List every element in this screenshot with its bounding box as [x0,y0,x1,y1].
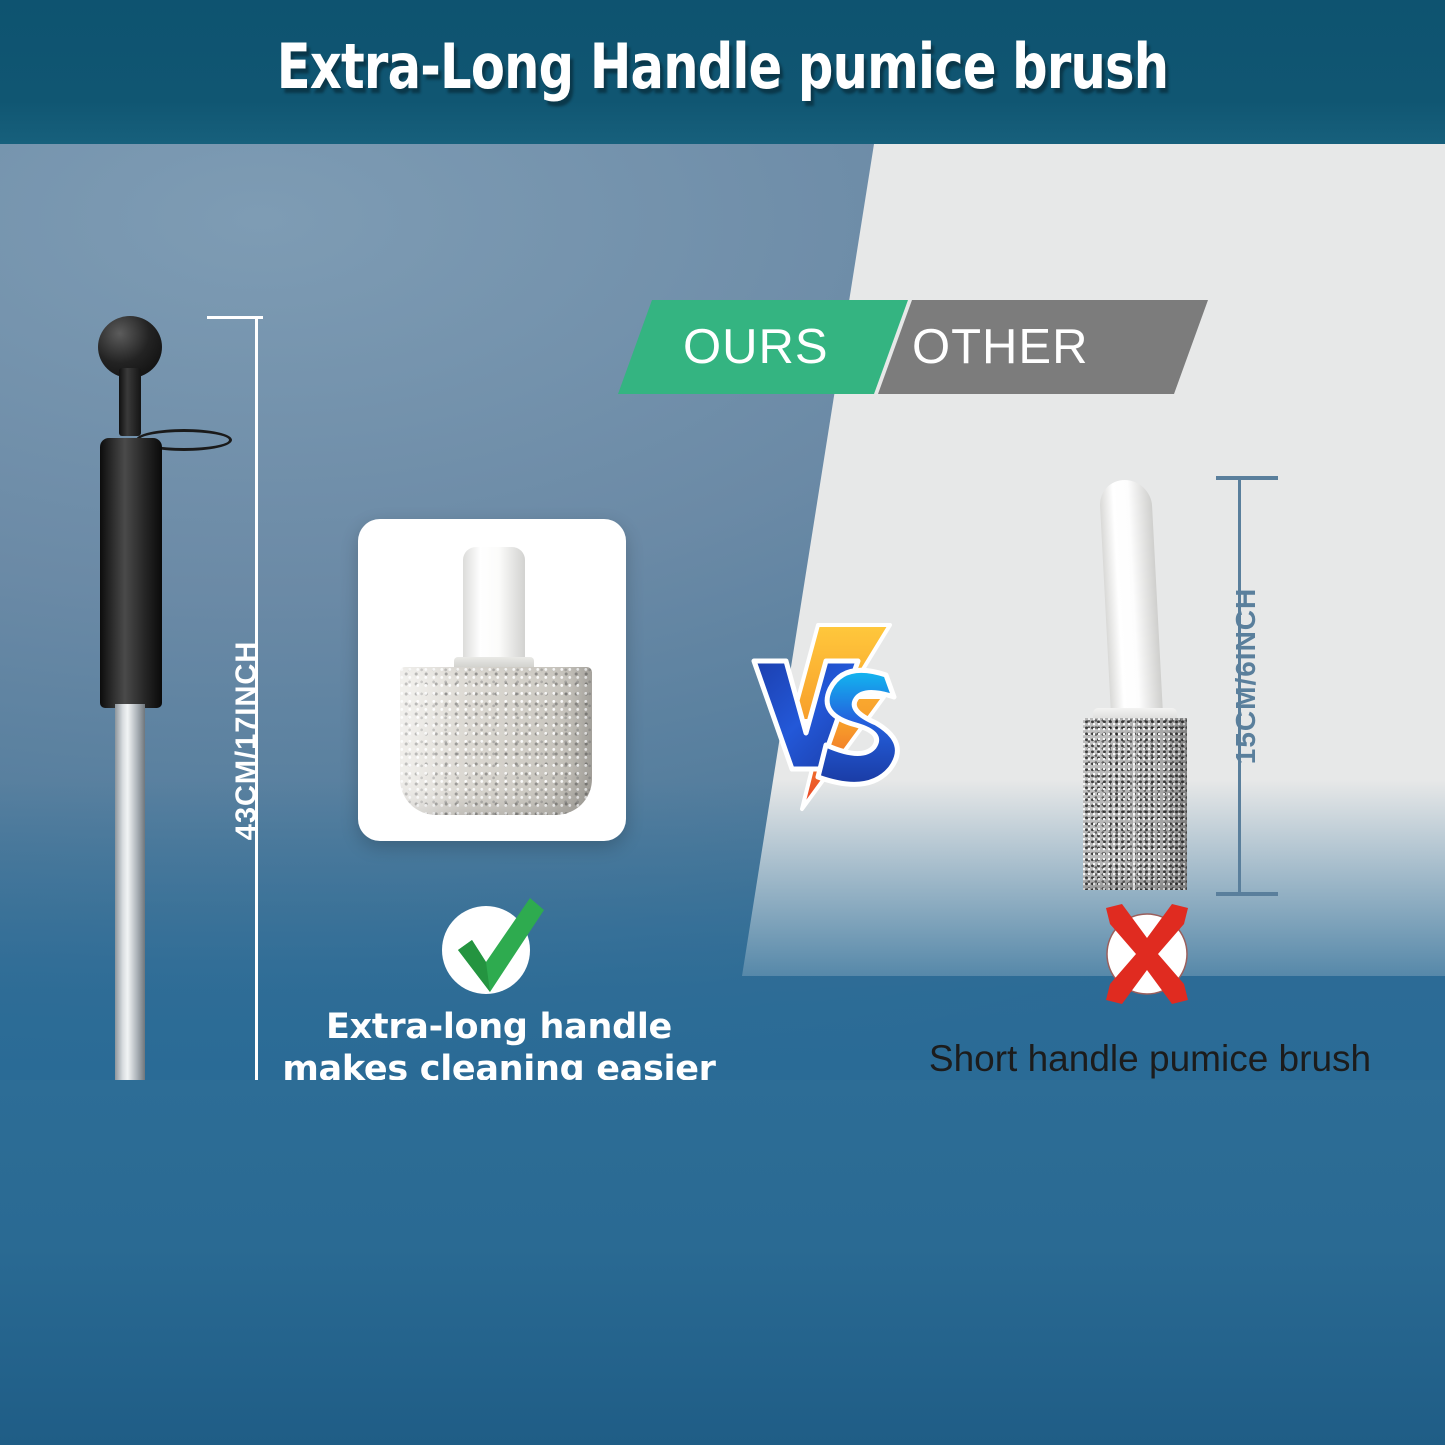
ours-label: OURS [683,320,829,374]
product-infographic: Extra-Long Handle pumice brush 43CM/17IN… [0,0,1445,1445]
long-handle-brush-illustration [78,316,218,1188]
vs-icon [740,609,920,819]
right-caption: Short handle pumice brush [830,1037,1445,1081]
red-cross-icon [1092,902,1202,1006]
header-bar: Extra-Long Handle pumice brush [0,0,1445,144]
product-photo-card [358,519,626,841]
brush-grip [100,438,162,708]
short-brush-pumice-block [1083,718,1187,890]
short-brush-handle [1099,480,1164,720]
page-title: Extra-Long Handle pumice brush [145,32,1301,102]
green-check-icon [432,892,550,1000]
bottom-band: Feature This Product Plastic Brush Chemi… [0,1080,1445,1445]
short-brush-edge-highlight [1133,718,1135,890]
bracket-top-tick [1216,476,1278,480]
right-dimension-bracket: 15CM/6INCH [1216,476,1278,896]
photo-plastic-connector [463,547,525,667]
bracket-bottom-tick [1216,892,1278,896]
short-handle-brush-illustration [1075,480,1205,880]
photo-pumice-highlight [400,667,462,815]
brush-neck [119,368,141,436]
left-dimension-bracket: 43CM/17INCH [207,316,263,1188]
left-dimension-label: 43CM/17INCH [231,561,264,921]
hero-comparison-area: 43CM/17INCH OURS OTHER Extra-long handle… [0,144,1445,1080]
right-dimension-label: 15CM/6INCH [1230,496,1262,856]
